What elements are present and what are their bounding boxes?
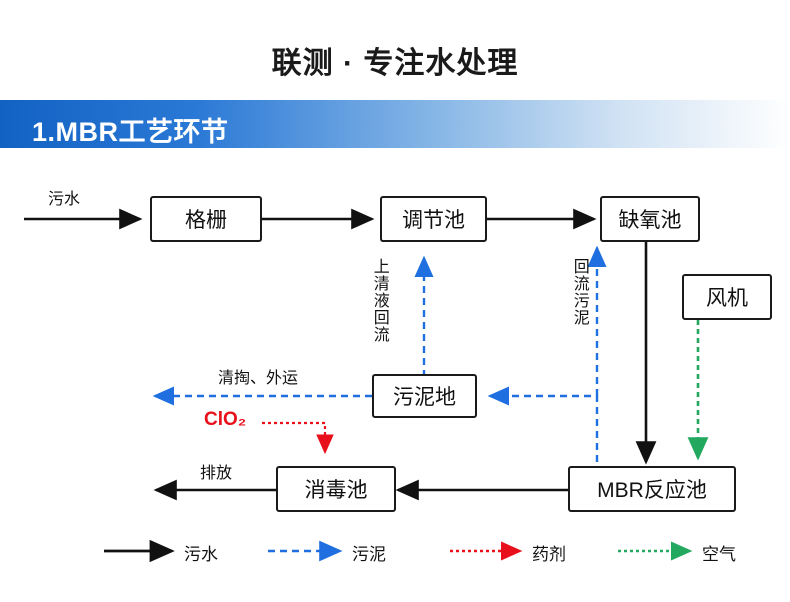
node-equalization-tank[interactable]: 调节池 bbox=[380, 196, 487, 242]
node-equalization-tank-label: 调节池 bbox=[402, 204, 465, 234]
node-disinfection-tank[interactable]: 消毒池 bbox=[276, 466, 396, 512]
page-title: 联测 · 专注水处理 bbox=[0, 38, 790, 82]
node-anoxic-tank[interactable]: 缺氧池 bbox=[600, 196, 700, 242]
node-sludge-bed[interactable]: 污泥地 bbox=[372, 374, 477, 418]
node-mbr-tank[interactable]: MBR反应池 bbox=[568, 466, 736, 512]
node-mbr-tank-label: MBR反应池 bbox=[597, 474, 707, 504]
node-disinfection-tank-label: 消毒池 bbox=[305, 474, 368, 504]
annotation-sludge-return: 回流污泥 bbox=[570, 258, 587, 353]
node-blower-label: 风机 bbox=[706, 282, 748, 312]
diagram-page: 联测 · 专注水处理 1.MBR工艺环节 bbox=[0, 0, 790, 602]
legend-label-sludge: 污泥 bbox=[352, 540, 386, 565]
inlet-label: 污水 bbox=[48, 185, 80, 209]
node-grid[interactable]: 格栅 bbox=[150, 196, 262, 242]
node-blower[interactable]: 风机 bbox=[682, 274, 772, 320]
node-grid-label: 格栅 bbox=[185, 204, 227, 234]
annotation-discharge: 排放 bbox=[200, 459, 232, 483]
annotation-supernatant-return: 上清液回流 bbox=[370, 258, 387, 370]
node-anoxic-tank-label: 缺氧池 bbox=[619, 204, 682, 234]
legend-label-sewage: 污水 bbox=[184, 540, 218, 565]
annotation-chemical-clo2: ClO₂ bbox=[204, 409, 246, 431]
annotation-dredge-transport: 清掏、外运 bbox=[218, 364, 298, 388]
legend-label-chemical: 药剂 bbox=[532, 540, 566, 565]
node-sludge-bed-label: 污泥地 bbox=[393, 381, 456, 411]
legend-label-air: 空气 bbox=[702, 540, 736, 565]
section-title: 1.MBR工艺环节 bbox=[32, 110, 229, 149]
